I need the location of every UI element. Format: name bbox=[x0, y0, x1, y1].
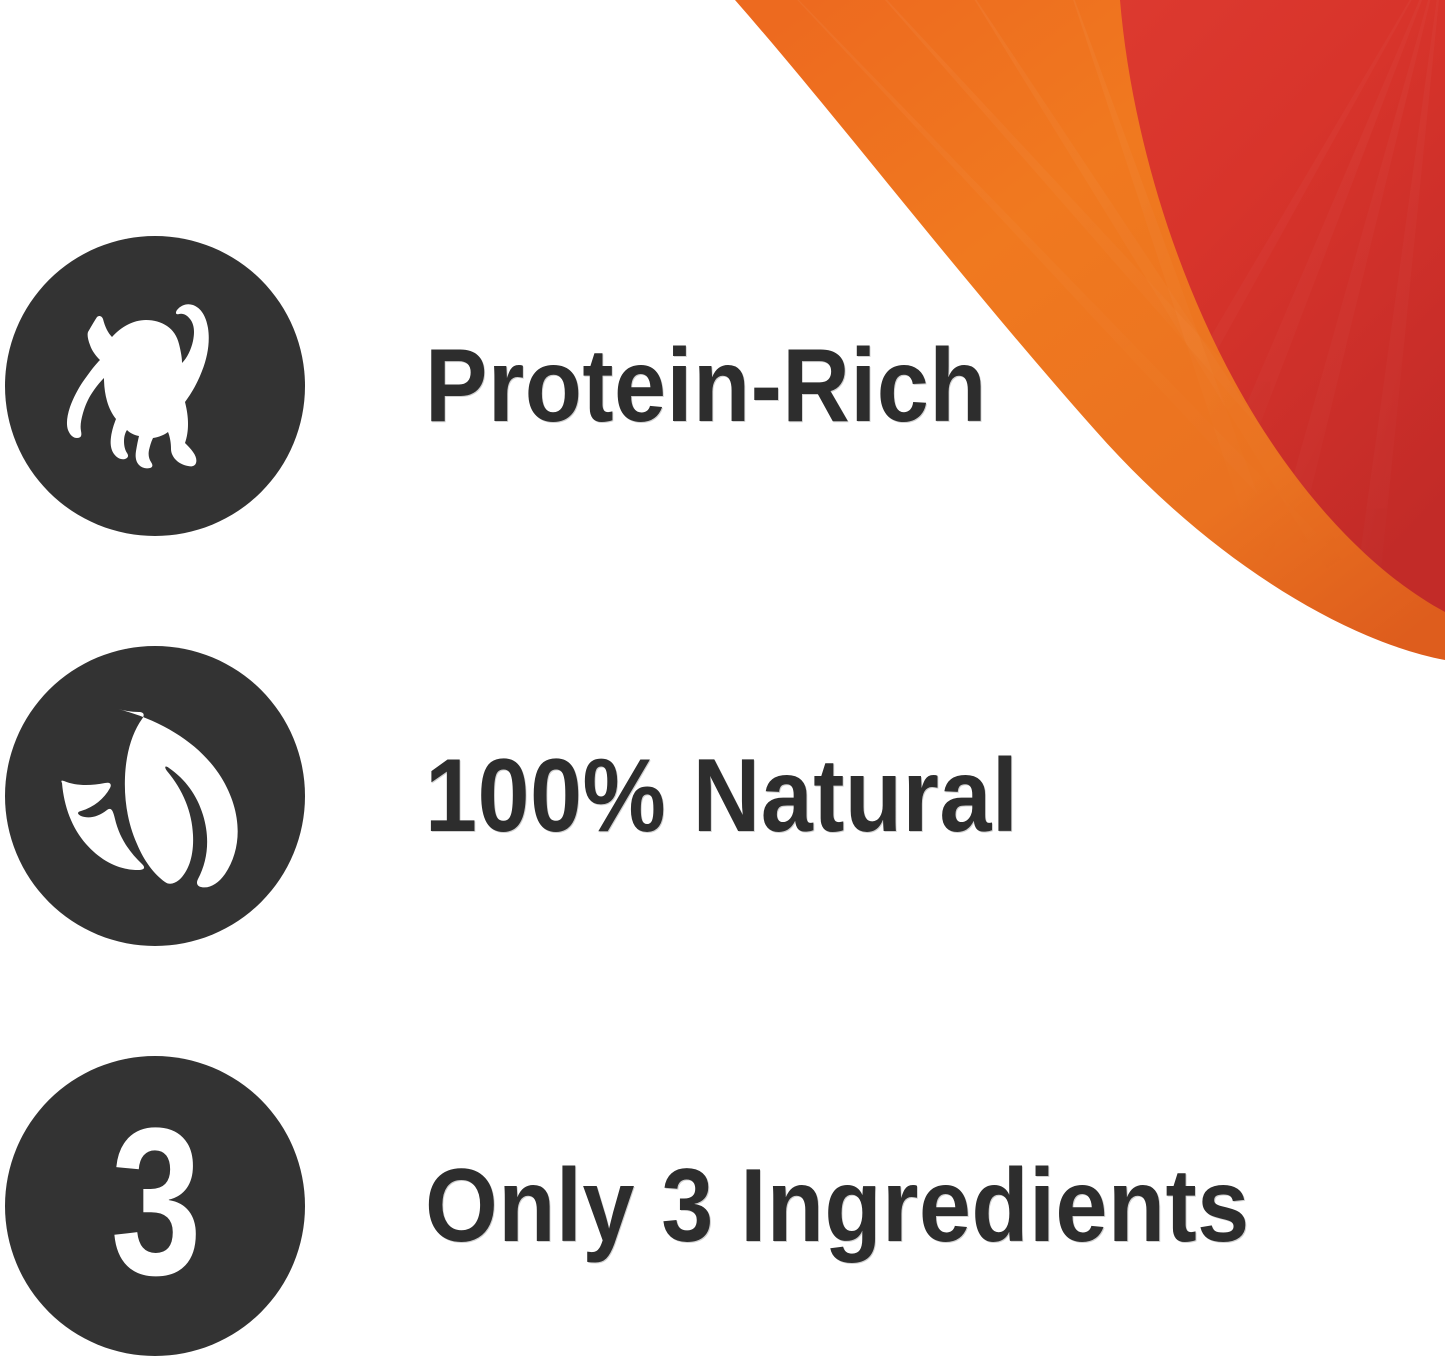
feature-row: 100% Natural bbox=[0, 646, 1084, 946]
cat-silhouette-icon bbox=[40, 286, 270, 486]
feature-badge bbox=[5, 236, 305, 536]
swoosh-red-band bbox=[1000, 0, 1445, 680]
feature-row: 3 Only 3 Ingredients bbox=[0, 1056, 1341, 1356]
leaf-icon bbox=[46, 691, 264, 901]
product-feature-graphic: Protein-Rich 100% Natural 3 Only 3 Ingre… bbox=[0, 0, 1445, 1360]
feature-label: Only 3 Ingredients bbox=[425, 1154, 1250, 1258]
feature-row: Protein-Rich bbox=[0, 236, 1049, 536]
feature-badge: 3 bbox=[5, 1056, 305, 1356]
feature-label: Protein-Rich bbox=[425, 334, 987, 438]
number-three-icon: 3 bbox=[110, 1097, 200, 1307]
feature-badge bbox=[5, 646, 305, 946]
feature-label: 100% Natural bbox=[425, 744, 1018, 848]
